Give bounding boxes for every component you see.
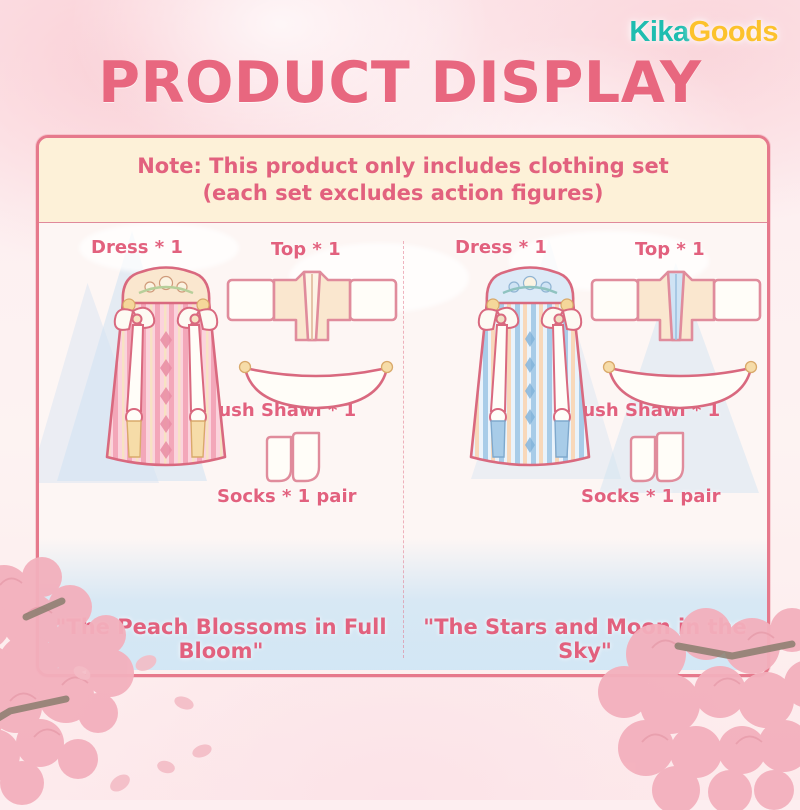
note-line-1: Note: This product only includes clothin… <box>137 154 669 179</box>
set-name-right: "The Stars and Moon in the Sky" <box>409 616 761 664</box>
note-banner: Note: This product only includes clothin… <box>39 138 767 223</box>
set-name-left: "The Peach Blossoms in Full Bloom" <box>45 616 397 664</box>
plush-shawl-illustration-right <box>599 358 761 418</box>
plush-shawl-illustration-left <box>235 358 397 418</box>
brand-logo-goods: Goods <box>689 16 778 48</box>
label-dress-right: Dress * 1 <box>455 237 547 258</box>
label-top-right: Top * 1 <box>635 239 705 260</box>
page-title: PRODUCT DISPLAY <box>0 50 800 116</box>
socks-illustration-right <box>627 431 705 489</box>
socks-illustration-left <box>263 431 341 489</box>
note-line-2: (each set excludes action figures) <box>202 181 603 206</box>
label-top-left: Top * 1 <box>271 239 341 260</box>
panels-container: Dress * 1 Top * 1 Plush Shawl * 1 Socks … <box>39 223 767 670</box>
label-dress-left: Dress * 1 <box>91 237 183 258</box>
panel-stars-and-moon: Dress * 1 Top * 1 Plush Shawl * 1 Socks … <box>403 223 767 670</box>
top-illustration-left <box>222 268 402 348</box>
brand-logo-kika: Kika <box>629 16 688 48</box>
top-illustration-right <box>586 268 766 348</box>
panel-peach-blossoms: Dress * 1 Top * 1 Plush Shawl * 1 Socks … <box>39 223 403 670</box>
product-display-card: Note: This product only includes clothin… <box>36 135 770 677</box>
brand-logo: KikaGoods <box>629 16 778 49</box>
